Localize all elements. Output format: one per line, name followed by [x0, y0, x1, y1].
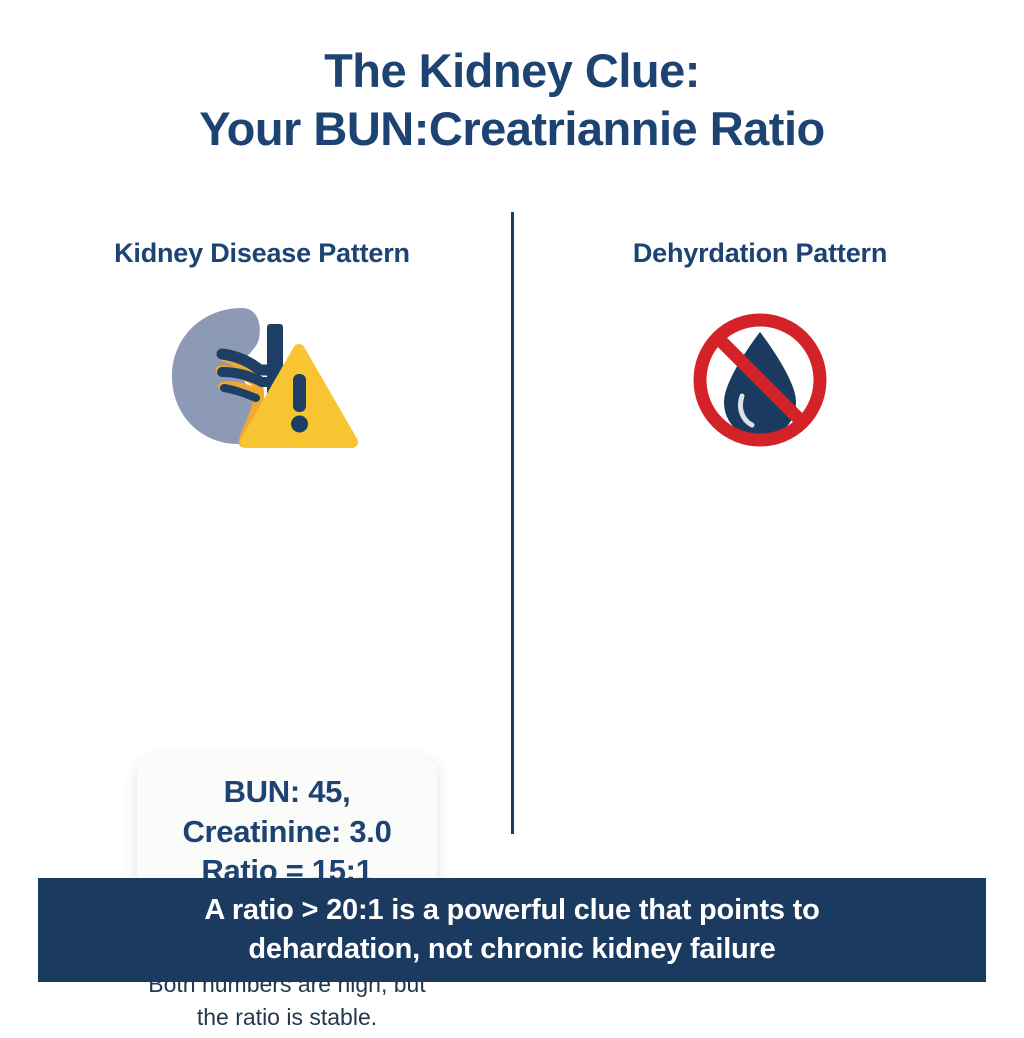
no-water-drop-icon-wrap: [520, 297, 1000, 461]
banner-line-1: A ratio > 20:1 is a powerful clue that p…: [204, 891, 819, 930]
column-divider: [511, 212, 514, 834]
column-heading-left: Kidney Disease Pattern: [22, 238, 502, 269]
banner-line-2: dehardation, not chronic kidney failure: [248, 930, 775, 969]
card-line-creatinine-left: Creatinine: 3.0: [155, 812, 419, 852]
column-dehydration: Dehyrdation Pattern BUN: 40 Creatinine: …: [520, 238, 1000, 461]
column-kidney-disease: Kidney Disease Pattern: [22, 238, 502, 463]
column-heading-right: Dehyrdation Pattern: [520, 238, 1000, 269]
title-line-2: Your BUN:Creatriannie Ratio: [0, 104, 1024, 154]
infographic-root: The Kidney Clue: Your BUN:Creatriannie R…: [0, 0, 1024, 1024]
kidney-warning-icon: [162, 298, 362, 458]
card-line-bun-left: BUN: 45,: [155, 772, 419, 812]
kidney-warning-icon-wrap: [22, 293, 502, 463]
caption-left-line-2: the ratio is stable.: [67, 1001, 507, 1034]
title-line-1: The Kidney Clue:: [0, 46, 1024, 96]
page-title: The Kidney Clue: Your BUN:Creatriannie R…: [0, 46, 1024, 154]
no-water-drop-icon: [680, 304, 840, 454]
summary-banner: A ratio > 20:1 is a powerful clue that p…: [38, 878, 986, 982]
